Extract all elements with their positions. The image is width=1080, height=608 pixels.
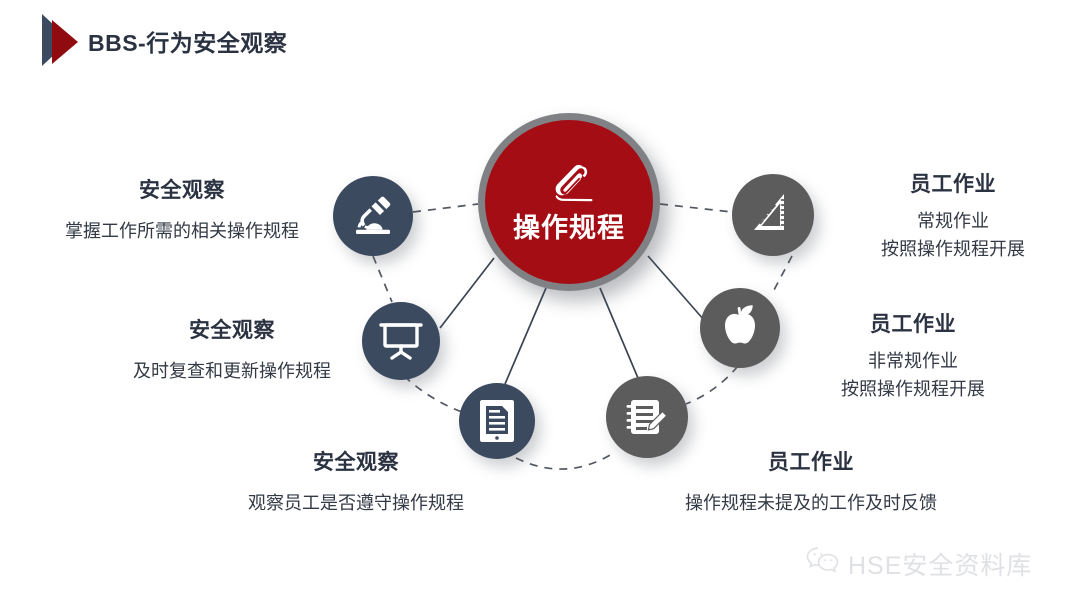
label-right-1: 员工作业 常规作业 按照操作规程开展 xyxy=(838,172,1068,264)
label-right-3: 员工作业 操作规程未提及的工作及时反馈 xyxy=(626,450,996,518)
triangle-ruler-icon xyxy=(750,192,796,238)
center-node-label: 操作规程 xyxy=(513,215,625,242)
watermark-text: HSE安全资料库 xyxy=(848,546,1032,582)
label-left-3: 安全观察 观察员工是否遵守操作规程 xyxy=(186,450,526,518)
pen-writing-icon xyxy=(538,163,600,213)
label-left-3-line-1: 观察员工是否遵守操作规程 xyxy=(186,490,526,518)
label-right-3-title: 员工作业 xyxy=(626,450,996,476)
node-notepad-pencil[interactable] xyxy=(606,376,688,458)
label-left-1: 安全观察 掌握工作所需的相关操作规程 xyxy=(22,178,342,246)
node-tablet-document[interactable] xyxy=(459,383,535,459)
label-right-1-line-1: 常规作业 xyxy=(838,208,1068,236)
node-microscope[interactable] xyxy=(333,176,413,256)
label-right-2: 员工作业 非常规作业 按照操作规程开展 xyxy=(798,312,1028,404)
label-right-1-line-2: 按照操作规程开展 xyxy=(838,236,1068,264)
wechat-icon xyxy=(805,545,841,582)
slide-canvas: BBS-行为安全观察 xyxy=(0,0,1080,608)
label-left-1-line-1: 掌握工作所需的相关操作规程 xyxy=(22,218,342,246)
label-left-1-title: 安全观察 xyxy=(22,178,342,204)
label-right-3-line-1: 操作规程未提及的工作及时反馈 xyxy=(626,490,996,518)
center-node-operating-procedure[interactable]: 操作规程 xyxy=(478,113,660,291)
label-left-3-title: 安全观察 xyxy=(186,450,526,476)
label-left-2-line-1: 及时复查和更新操作规程 xyxy=(72,358,392,386)
node-triangle-ruler[interactable] xyxy=(732,174,814,256)
label-right-2-line-2: 按照操作规程开展 xyxy=(798,376,1028,404)
apple-icon xyxy=(718,305,762,351)
label-left-2-title: 安全观察 xyxy=(72,318,392,344)
watermark: HSE安全资料库 xyxy=(805,545,1032,582)
notepad-pencil-icon xyxy=(624,394,670,440)
microscope-icon xyxy=(350,193,396,239)
label-left-2: 安全观察 及时复查和更新操作规程 xyxy=(72,318,392,386)
label-right-2-title: 员工作业 xyxy=(798,312,1028,338)
node-apple[interactable] xyxy=(700,288,780,368)
tablet-document-icon xyxy=(478,398,516,444)
label-right-1-title: 员工作业 xyxy=(838,172,1068,198)
label-right-2-line-1: 非常规作业 xyxy=(798,348,1028,376)
